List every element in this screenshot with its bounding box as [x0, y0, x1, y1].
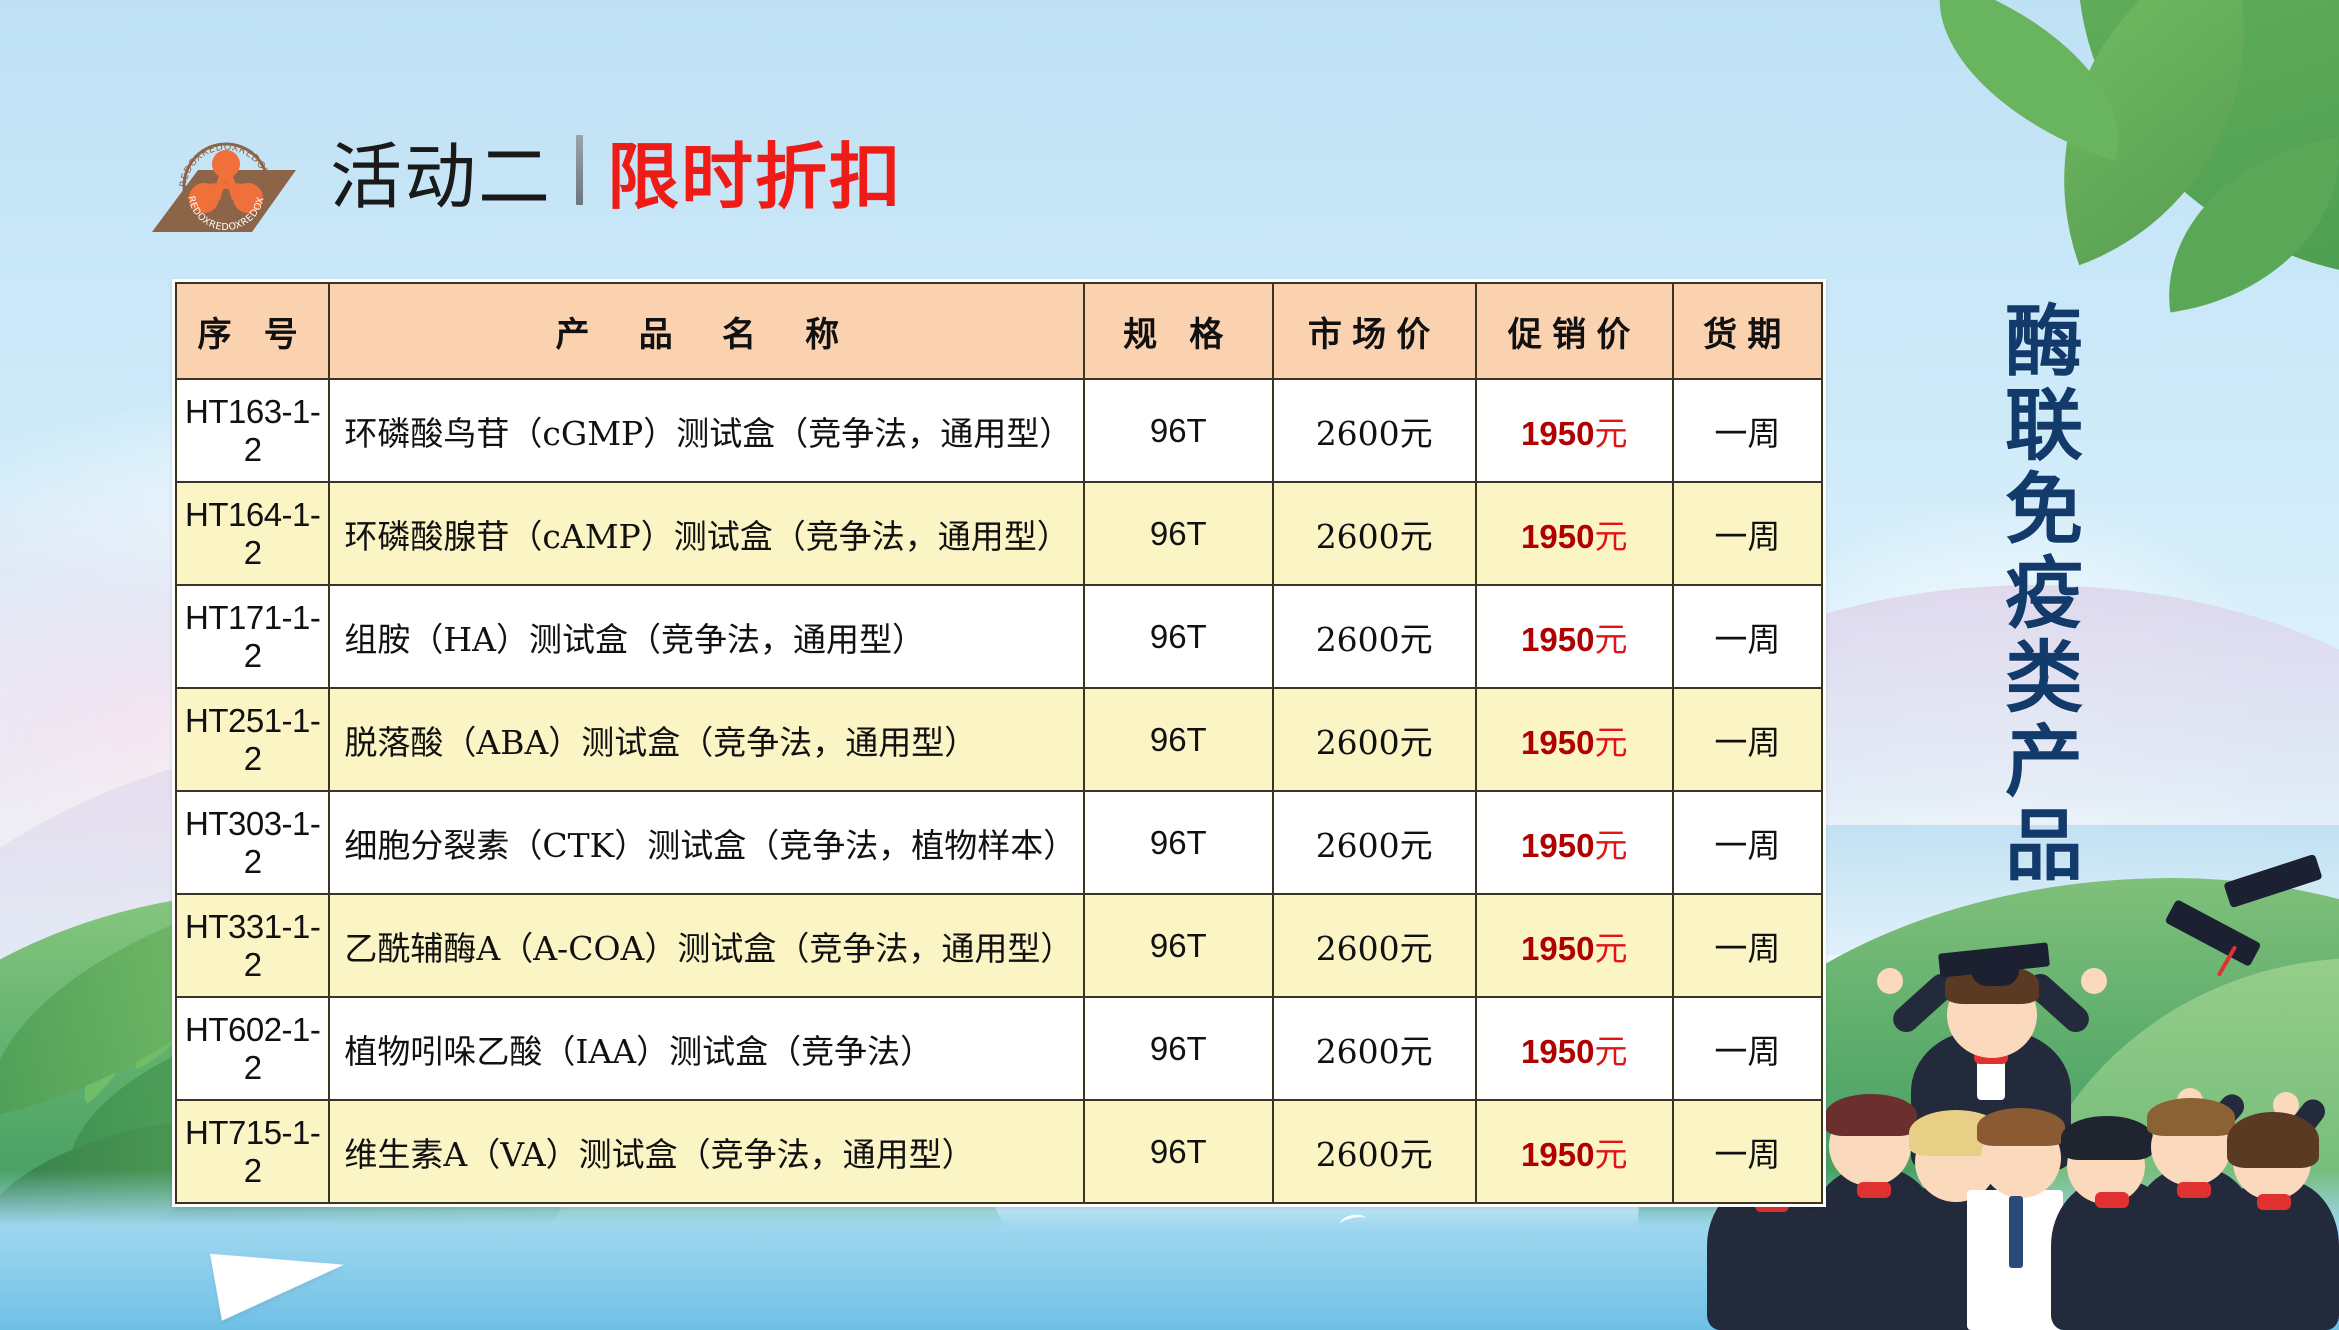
promo-price-value: 1950	[1521, 1033, 1594, 1070]
table-body: HT163-1-2环磷酸鸟苷（cGMP）测试盒（竞争法，通用型）96T2600元…	[176, 379, 1822, 1203]
cell-code: HT331-1-2	[176, 894, 329, 997]
promo-price-value: 1950	[1521, 518, 1594, 555]
title-accent: 限时折扣	[607, 118, 903, 223]
cell-product-name: 乙酰辅酶A（A-COA）测试盒（竞争法，通用型）	[329, 894, 1084, 997]
cell-product-name: 细胞分裂素（CTK）测试盒（竞争法，植物样本）	[329, 791, 1084, 894]
cell-lead-time: 一周	[1673, 1100, 1822, 1203]
cell-code: HT303-1-2	[176, 791, 329, 894]
cell-promo-price: 1950元	[1476, 482, 1673, 585]
cell-promo-price: 1950元	[1476, 791, 1673, 894]
cell-market-price: 2600元	[1273, 1100, 1476, 1203]
promo-price-unit: 元	[1594, 723, 1627, 762]
cell-spec: 96T	[1084, 894, 1273, 997]
table-row: HT164-1-2环磷酸腺苷（cAMP）测试盒（竞争法，通用型）96T2600元…	[176, 482, 1822, 585]
cell-lead-time: 一周	[1673, 791, 1822, 894]
cell-lead-time: 一周	[1673, 482, 1822, 585]
cell-promo-price: 1950元	[1476, 894, 1673, 997]
column-header-code: 序 号	[176, 283, 329, 379]
cell-spec: 96T	[1084, 791, 1273, 894]
promo-price-unit: 元	[1594, 517, 1627, 556]
cell-lead-time: 一周	[1673, 688, 1822, 791]
table-row: HT251-1-2脱落酸（ABA）测试盒（竞争法，通用型）96T2600元195…	[176, 688, 1822, 791]
cell-lead-time: 一周	[1673, 997, 1822, 1100]
promo-price-value: 1950	[1521, 621, 1594, 658]
cell-spec: 96T	[1084, 585, 1273, 688]
cell-market-price: 2600元	[1273, 482, 1476, 585]
cell-product-name: 脱落酸（ABA）测试盒（竞争法，通用型）	[329, 688, 1084, 791]
cell-product-name: 植物吲哚乙酸（IAA）测试盒（竞争法）	[329, 997, 1084, 1100]
table-row: HT163-1-2环磷酸鸟苷（cGMP）测试盒（竞争法，通用型）96T2600元…	[176, 379, 1822, 482]
cell-code: HT164-1-2	[176, 482, 329, 585]
cell-market-price: 2600元	[1273, 791, 1476, 894]
table-header: 序 号 产 品 名 称 规 格 市场价 促销价 货期	[176, 283, 1822, 379]
column-header-lead-time: 货期	[1673, 283, 1822, 379]
cell-lead-time: 一周	[1673, 585, 1822, 688]
cell-market-price: 2600元	[1273, 894, 1476, 997]
cell-product-name: 维生素A（VA）测试盒（竞争法，通用型）	[329, 1100, 1084, 1203]
cell-code: HT171-1-2	[176, 585, 329, 688]
promo-price-value: 1950	[1521, 415, 1594, 452]
product-table: 序 号 产 品 名 称 规 格 市场价 促销价 货期 HT163-1-2环磷酸鸟…	[175, 282, 1823, 1204]
cell-promo-price: 1950元	[1476, 585, 1673, 688]
promo-price-unit: 元	[1594, 620, 1627, 659]
cell-product-name: 环磷酸腺苷（cAMP）测试盒（竞争法，通用型）	[329, 482, 1084, 585]
table-row: HT303-1-2细胞分裂素（CTK）测试盒（竞争法，植物样本）96T2600元…	[176, 791, 1822, 894]
cell-market-price: 2600元	[1273, 997, 1476, 1100]
promo-price-value: 1950	[1521, 930, 1594, 967]
column-header-spec: 规 格	[1084, 283, 1273, 379]
promo-price-unit: 元	[1594, 1135, 1627, 1174]
cell-lead-time: 一周	[1673, 379, 1822, 482]
table-row: HT602-1-2植物吲哚乙酸（IAA）测试盒（竞争法）96T2600元1950…	[176, 997, 1822, 1100]
company-logo: REDOXREDOXREDOX REDOXREDOXREDOX	[148, 140, 298, 232]
cell-market-price: 2600元	[1273, 585, 1476, 688]
cell-spec: 96T	[1084, 1100, 1273, 1203]
table-header-row: 序 号 产 品 名 称 规 格 市场价 促销价 货期	[176, 283, 1822, 379]
title-main: 活动二	[330, 118, 552, 223]
column-header-promo-price: 促销价	[1476, 283, 1673, 379]
cell-promo-price: 1950元	[1476, 1100, 1673, 1203]
page-title: 活动二 限时折扣	[330, 122, 903, 218]
cell-lead-time: 一周	[1673, 894, 1822, 997]
table-row: HT715-1-2维生素A（VA）测试盒（竞争法，通用型）96T2600元195…	[176, 1100, 1822, 1203]
cell-code: HT715-1-2	[176, 1100, 329, 1203]
redox-logo-icon: REDOXREDOXREDOX REDOXREDOXREDOX	[148, 140, 308, 236]
cell-spec: 96T	[1084, 379, 1273, 482]
cell-code: HT251-1-2	[176, 688, 329, 791]
promo-price-value: 1950	[1521, 1136, 1594, 1173]
column-header-product-name: 产 品 名 称	[329, 283, 1084, 379]
category-vertical-label: 酶联免疫类产品	[1985, 300, 2077, 888]
cell-spec: 96T	[1084, 997, 1273, 1100]
cell-code: HT163-1-2	[176, 379, 329, 482]
graduation-cap-icon	[2223, 854, 2322, 908]
table-row: HT331-1-2乙酰辅酶A（A-COA）测试盒（竞争法，通用型）96T2600…	[176, 894, 1822, 997]
cell-product-name: 环磷酸鸟苷（cGMP）测试盒（竞争法，通用型）	[329, 379, 1084, 482]
product-table-container: 序 号 产 品 名 称 规 格 市场价 促销价 货期 HT163-1-2环磷酸鸟…	[172, 279, 1826, 1207]
promo-price-value: 1950	[1521, 724, 1594, 761]
promo-price-value: 1950	[1521, 827, 1594, 864]
cell-promo-price: 1950元	[1476, 997, 1673, 1100]
cell-spec: 96T	[1084, 482, 1273, 585]
promo-price-unit: 元	[1594, 414, 1627, 453]
cell-promo-price: 1950元	[1476, 688, 1673, 791]
table-row: HT171-1-2组胺（HA）测试盒（竞争法，通用型）96T2600元1950元…	[176, 585, 1822, 688]
title-separator-bar	[576, 135, 583, 205]
cell-code: HT602-1-2	[176, 997, 329, 1100]
promo-price-unit: 元	[1594, 929, 1627, 968]
cell-spec: 96T	[1084, 688, 1273, 791]
cell-product-name: 组胺（HA）测试盒（竞争法，通用型）	[329, 585, 1084, 688]
graduation-cap-icon	[2165, 899, 2262, 967]
cell-market-price: 2600元	[1273, 379, 1476, 482]
cell-promo-price: 1950元	[1476, 379, 1673, 482]
cell-market-price: 2600元	[1273, 688, 1476, 791]
promo-price-unit: 元	[1594, 826, 1627, 865]
promo-price-unit: 元	[1594, 1032, 1627, 1071]
column-header-market-price: 市场价	[1273, 283, 1476, 379]
